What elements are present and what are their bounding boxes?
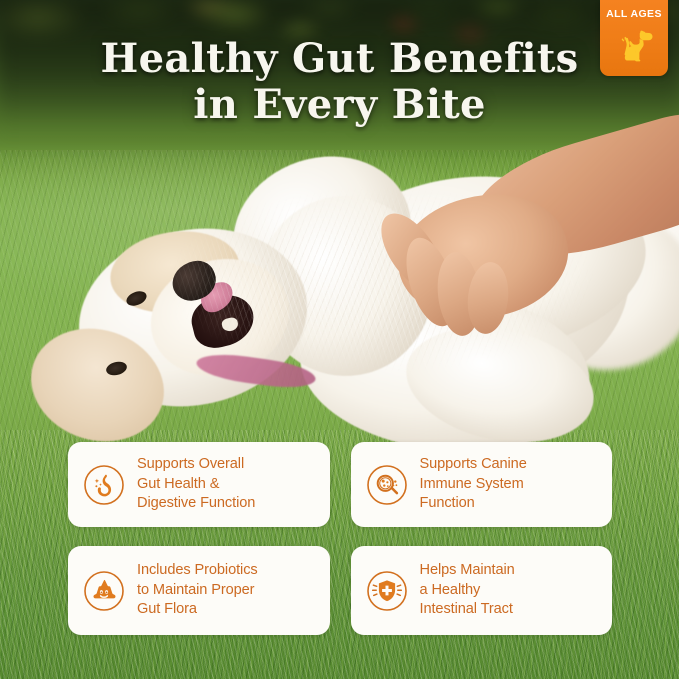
benefit-line: Supports Canine — [420, 455, 527, 475]
benefit-line: Supports Overall — [137, 455, 255, 475]
benefit-line: to Maintain Proper — [137, 581, 258, 601]
all-ages-badge-label: ALL AGES — [606, 9, 662, 20]
benefit-card[interactable]: Helps Maintain a Healthy Intestinal Trac… — [351, 546, 613, 635]
all-ages-badge: ALL AGES — [600, 0, 668, 76]
benefit-card-text: Includes Probiotics to Maintain Proper G… — [137, 561, 258, 620]
benefit-line: Immune System — [420, 475, 527, 495]
benefit-line: Gut Flora — [137, 600, 258, 620]
benefit-card-text: Supports Overall Gut Health & Digestive … — [137, 455, 255, 514]
benefit-line: Function — [420, 494, 527, 514]
benefit-line: Intestinal Tract — [420, 600, 515, 620]
magnifying-glass-microbe-icon — [365, 463, 409, 507]
benefit-cards: Supports Overall Gut Health & Digestive … — [68, 442, 612, 635]
shield-plus-icon — [365, 569, 409, 613]
sitting-dog-icon — [613, 24, 655, 73]
benefit-card[interactable]: Includes Probiotics to Maintain Proper G… — [68, 546, 330, 635]
benefit-line: Helps Maintain — [420, 561, 515, 581]
headline-line-2: in Every Bite — [74, 82, 605, 128]
benefit-card[interactable]: Supports Overall Gut Health & Digestive … — [68, 442, 330, 527]
headline-line-1: Healthy Gut Benefits — [74, 36, 605, 82]
benefit-line: Digestive Function — [137, 494, 255, 514]
product-benefits-poster: Healthy Gut Benefits in Every Bite ALL A… — [0, 0, 679, 679]
probiotic-poop-icon — [82, 569, 126, 613]
benefit-line: Gut Health & — [137, 475, 255, 495]
headline: Healthy Gut Benefits in Every Bite — [0, 36, 679, 128]
benefit-card-text: Supports Canine Immune System Function — [420, 455, 527, 514]
benefit-card-text: Helps Maintain a Healthy Intestinal Trac… — [420, 561, 515, 620]
benefit-line: a Healthy — [420, 581, 515, 601]
stomach-sparkle-icon — [82, 463, 126, 507]
benefit-line: Includes Probiotics — [137, 561, 258, 581]
benefit-card[interactable]: Supports Canine Immune System Function — [351, 442, 613, 527]
